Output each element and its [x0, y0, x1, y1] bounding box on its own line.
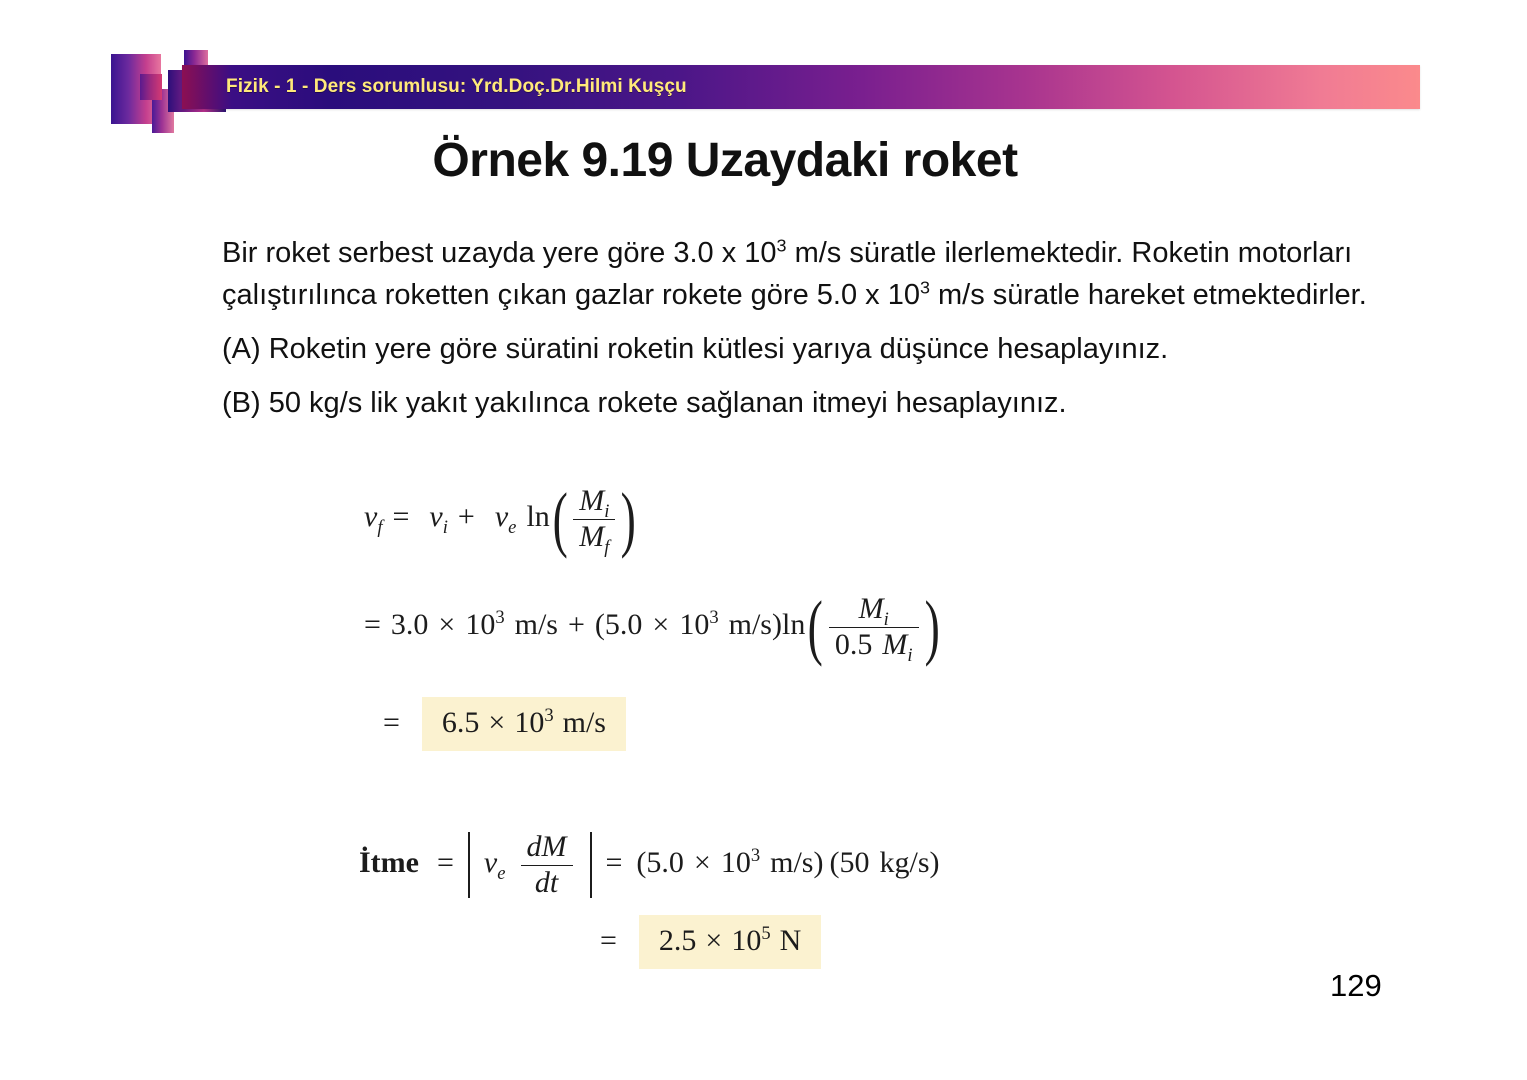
exponent-3-first: 3: [777, 235, 787, 255]
equation-thrust-result: =2.5×105N: [600, 915, 821, 969]
eq4-m1-base: 10: [721, 846, 751, 879]
eq2-v2-exponent: 3: [709, 607, 718, 628]
page-title: Örnek 9.19 Uzaydaki roket: [0, 133, 1450, 188]
eq2-close-paren: ): [772, 608, 782, 641]
eq2-open-paren: (: [595, 608, 605, 641]
question-item-b: (B) 50 kg/s lik yakıt yakılınca rokete s…: [222, 382, 1402, 424]
eq5-times: ×: [705, 924, 722, 957]
eq1-paren-open: (: [552, 493, 567, 546]
eq1-term2-subscript: e: [508, 517, 516, 538]
exponent-3-second: 3: [920, 277, 930, 297]
eq1-ln-operator: ln: [526, 500, 549, 533]
eq1-term1-variable: v: [429, 500, 442, 533]
eq4-exhaust-velocity-variable: v: [484, 846, 497, 879]
problem-text-part-1: Bir roket serbest uzayda yere göre 3.0 x…: [222, 237, 777, 269]
slide-body: Bir roket serbest uzayda yere göre 3.0 x…: [222, 232, 1402, 424]
eq2-v1-base: 10: [465, 608, 495, 641]
eq1-equals: =: [393, 500, 410, 533]
header-banner: Fizik - 1 - Ders sorumlusu: Yrd.Doç.Dr.H…: [0, 0, 1527, 140]
eq1-numerator-variable: M: [579, 484, 604, 517]
eq2-paren-close: ): [924, 601, 939, 654]
eq3-unit: m/s: [563, 706, 606, 739]
page-number: 129: [1330, 968, 1382, 1004]
problem-statement-paragraph: Bir roket serbest uzayda yere göre 3.0 x…: [222, 232, 1402, 316]
eq4-fraction-denominator: dt: [521, 865, 573, 901]
eq4-times: ×: [694, 846, 711, 879]
eq2-v1-unit: m/s: [515, 608, 558, 641]
eq1-term2-variable: v: [495, 500, 508, 533]
eq2-v1-mantissa: 3.0: [391, 608, 429, 641]
eq5-base: 10: [731, 924, 761, 957]
eq3-times: ×: [488, 706, 505, 739]
eq4-m1-exponent: 3: [751, 845, 760, 866]
eq1-paren-close: ): [621, 493, 636, 546]
decorative-block-inner: [140, 74, 162, 100]
equation-thrust: İtme=vedMdt=(5.0×103m/s)(50kg/s): [359, 830, 940, 900]
eq2-v2-mantissa: 5.0: [605, 608, 643, 641]
eq5-mantissa: 2.5: [659, 924, 697, 957]
eq2-equals: =: [364, 608, 381, 641]
eq3-equals: =: [383, 706, 400, 739]
eq5-equals: =: [600, 924, 617, 957]
eq3-base: 10: [514, 706, 544, 739]
eq4-open-paren-1: (: [636, 846, 646, 879]
equation-velocity-result: =6.5×103m/s: [383, 697, 626, 751]
eq2-numerator-variable: M: [859, 592, 884, 625]
eq1-plus: +: [458, 500, 475, 533]
eq1-numerator-subscript: i: [604, 501, 609, 522]
eq3-mantissa: 6.5: [442, 706, 480, 739]
eq4-m2-unit: kg/s: [880, 846, 930, 879]
eq2-mass-ratio-fraction: Mi0.5Mi: [829, 592, 919, 662]
eq4-m1-unit: m/s: [770, 846, 813, 879]
eq4-mass-rate-fraction: dMdt: [521, 830, 573, 900]
eq5-unit: N: [780, 924, 802, 957]
eq4-exhaust-velocity-subscript: e: [497, 863, 505, 884]
eq4-equals-first: =: [437, 846, 454, 879]
eq1-mass-ratio-fraction: MiMf: [573, 484, 615, 554]
eq2-paren-open: (: [808, 601, 823, 654]
eq2-plus: +: [568, 608, 585, 641]
course-title-label: Fizik - 1 - Ders sorumlusu: Yrd.Doç.Dr.H…: [226, 76, 687, 98]
eq4-abs-bar-right: [590, 832, 592, 898]
eq4-abs-bar-left: [468, 832, 470, 898]
eq2-v2-base: 10: [679, 608, 709, 641]
eq2-denominator-subscript: i: [907, 645, 912, 666]
eq2-denominator-coefficient: 0.5: [835, 628, 873, 661]
result-highlight-velocity: 6.5×103m/s: [422, 697, 626, 751]
eq1-term1-subscript: i: [443, 517, 448, 538]
eq2-times-second: ×: [652, 608, 669, 641]
eq3-exponent: 3: [544, 705, 553, 726]
header-banner-bar: Fizik - 1 - Ders sorumlusu: Yrd.Doç.Dr.H…: [182, 65, 1420, 109]
eq2-ln-operator: ln: [782, 608, 805, 641]
question-item-a: (A) Roketin yere göre süratini roketin k…: [222, 328, 1402, 370]
equation-velocity-substitution: =3.0×103m/s+(5.0×103m/s)ln(Mi0.5Mi): [364, 592, 942, 662]
eq2-v2-unit: m/s: [729, 608, 772, 641]
eq2-denominator-variable: M: [882, 628, 907, 661]
problem-text-part-3: m/s süratle hareket etmektedirler.: [930, 279, 1367, 311]
eq4-m1-mantissa: 5.0: [646, 846, 684, 879]
eq2-v1-exponent: 3: [495, 607, 504, 628]
equation-rocket-velocity: vf=vi+veln(MiMf): [364, 484, 639, 554]
eq5-exponent: 5: [761, 923, 770, 944]
eq4-open-paren-2: (: [830, 846, 840, 879]
eq4-close-paren-2: ): [930, 846, 940, 879]
eq4-close-paren-1: ): [814, 846, 824, 879]
eq1-denominator-subscript: f: [604, 537, 609, 558]
eq1-denominator-variable: M: [579, 520, 604, 553]
eq4-equals-second: =: [606, 846, 623, 879]
eq2-times-first: ×: [438, 608, 455, 641]
eq4-m2-value: 50: [840, 846, 870, 879]
eq1-lhs-variable: v: [364, 500, 377, 533]
result-highlight-thrust: 2.5×105N: [639, 915, 821, 969]
eq1-lhs-subscript: f: [377, 517, 382, 538]
eq4-label-itme: İtme: [359, 846, 419, 879]
eq4-fraction-numerator: dM: [521, 830, 573, 865]
